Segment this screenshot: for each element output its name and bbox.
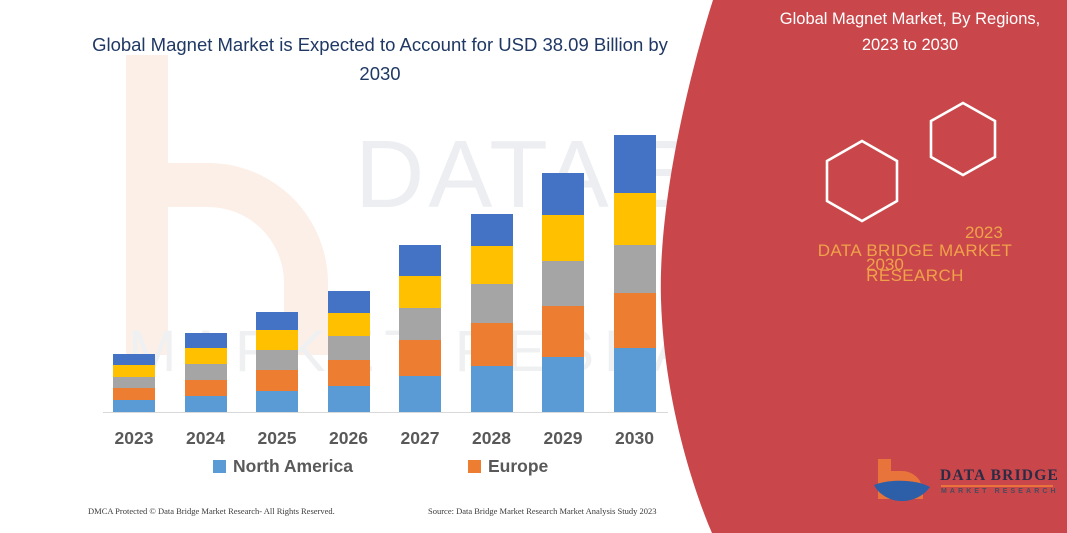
bar-segment-2027-2	[399, 340, 441, 376]
bar-segment-2024-2	[185, 380, 227, 396]
x-tick-2025: 2025	[242, 428, 312, 449]
bar-segment-2030-1	[614, 348, 656, 412]
footer: DMCA Protected © Data Bridge Market Rese…	[0, 506, 740, 526]
bar-segment-2026-3	[328, 336, 370, 360]
bar-segment-2023-3	[113, 377, 155, 388]
x-axis-line	[103, 412, 668, 413]
footer-dmca-text: DMCA Protected © Data Bridge Market Rese…	[88, 506, 335, 516]
bar-segment-2028-1	[471, 366, 513, 412]
bar-segment-2029-3	[542, 261, 584, 306]
bar-segment-2028-3	[471, 284, 513, 323]
legend-label: North America	[233, 456, 353, 477]
bar-segment-2026-5	[328, 291, 370, 313]
bar-segment-2030-2	[614, 293, 656, 348]
bar-segment-2030-5	[614, 135, 656, 193]
chart-plot-area: 20232024202520262027202820292030	[0, 0, 740, 533]
legend-item-north-america[interactable]: North America	[213, 456, 353, 477]
chart-legend: North AmericaEurope	[0, 456, 740, 482]
bar-segment-2023-5	[113, 354, 155, 365]
bar-2027	[399, 245, 441, 412]
infographic-canvas: DATA BRIDGE MARKET RESEARCH Global Magne…	[0, 0, 1067, 533]
bar-segment-2027-5	[399, 245, 441, 276]
bar-segment-2023-4	[113, 365, 155, 377]
bar-segment-2025-5	[256, 312, 298, 330]
x-tick-2029: 2029	[528, 428, 598, 449]
bar-segment-2030-4	[614, 193, 656, 245]
logo-sub-text: MARKET RESEARCH	[941, 488, 1059, 495]
logo-divider	[941, 485, 1053, 487]
data-bridge-mark-icon	[872, 455, 942, 513]
bar-segment-2026-4	[328, 313, 370, 336]
hex-2030	[827, 141, 897, 221]
legend-swatch-icon	[468, 460, 481, 473]
legend-item-europe[interactable]: Europe	[468, 456, 548, 477]
logo-main-text: DATA BRIDGE	[940, 467, 1059, 485]
right-panel-title: Global Magnet Market, By Regions, 2023 t…	[760, 6, 1060, 58]
bar-segment-2024-4	[185, 348, 227, 364]
bar-segment-2025-1	[256, 391, 298, 412]
brand-line-1: DATA BRIDGE MARKET	[818, 241, 1013, 260]
bar-2030	[614, 135, 656, 412]
bar-segment-2029-4	[542, 215, 584, 261]
bar-segment-2025-3	[256, 350, 298, 370]
bar-segment-2029-1	[542, 357, 584, 412]
x-tick-2023: 2023	[99, 428, 169, 449]
brand-name: DATA BRIDGE MARKET RESEARCH	[780, 238, 1050, 288]
x-tick-2024: 2024	[171, 428, 241, 449]
bar-segment-2023-1	[113, 400, 155, 412]
bar-segment-2024-3	[185, 364, 227, 380]
bar-2025	[256, 312, 298, 412]
footer-source-text: Source: Data Bridge Market Research Mark…	[428, 506, 657, 516]
bar-segment-2027-3	[399, 308, 441, 340]
x-tick-2030: 2030	[600, 428, 670, 449]
bar-segment-2028-4	[471, 246, 513, 284]
bar-2028	[471, 214, 513, 412]
bar-segment-2027-4	[399, 276, 441, 308]
bar-segment-2029-2	[542, 306, 584, 357]
hexagon-group: 2030 2023	[815, 95, 1045, 225]
bar-segment-2025-2	[256, 370, 298, 391]
bar-segment-2025-4	[256, 330, 298, 350]
brand-line-2: RESEARCH	[866, 266, 964, 285]
bar-segment-2023-2	[113, 388, 155, 400]
hex-2023	[931, 103, 995, 175]
bar-2023	[113, 354, 155, 412]
bar-segment-2026-2	[328, 360, 370, 386]
bar-2029	[542, 173, 584, 412]
data-bridge-logo: DATA BRIDGE MARKET RESEARCH	[872, 455, 1062, 517]
bar-2026	[328, 291, 370, 412]
bar-segment-2028-5	[471, 214, 513, 246]
x-axis-tick-labels: 20232024202520262027202820292030	[0, 428, 740, 456]
bar-segment-2030-3	[614, 245, 656, 293]
right-panel-content: Global Magnet Market, By Regions, 2023 t…	[660, 0, 1067, 533]
bar-segment-2029-5	[542, 173, 584, 215]
bar-segment-2027-1	[399, 376, 441, 412]
x-tick-2028: 2028	[457, 428, 527, 449]
x-tick-2027: 2027	[385, 428, 455, 449]
bar-segment-2026-1	[328, 386, 370, 412]
legend-swatch-icon	[213, 460, 226, 473]
bar-segment-2024-5	[185, 333, 227, 348]
legend-label: Europe	[488, 456, 548, 477]
bar-segment-2024-1	[185, 396, 227, 412]
x-tick-2026: 2026	[314, 428, 384, 449]
bar-segment-2028-2	[471, 323, 513, 366]
bar-2024	[185, 333, 227, 412]
